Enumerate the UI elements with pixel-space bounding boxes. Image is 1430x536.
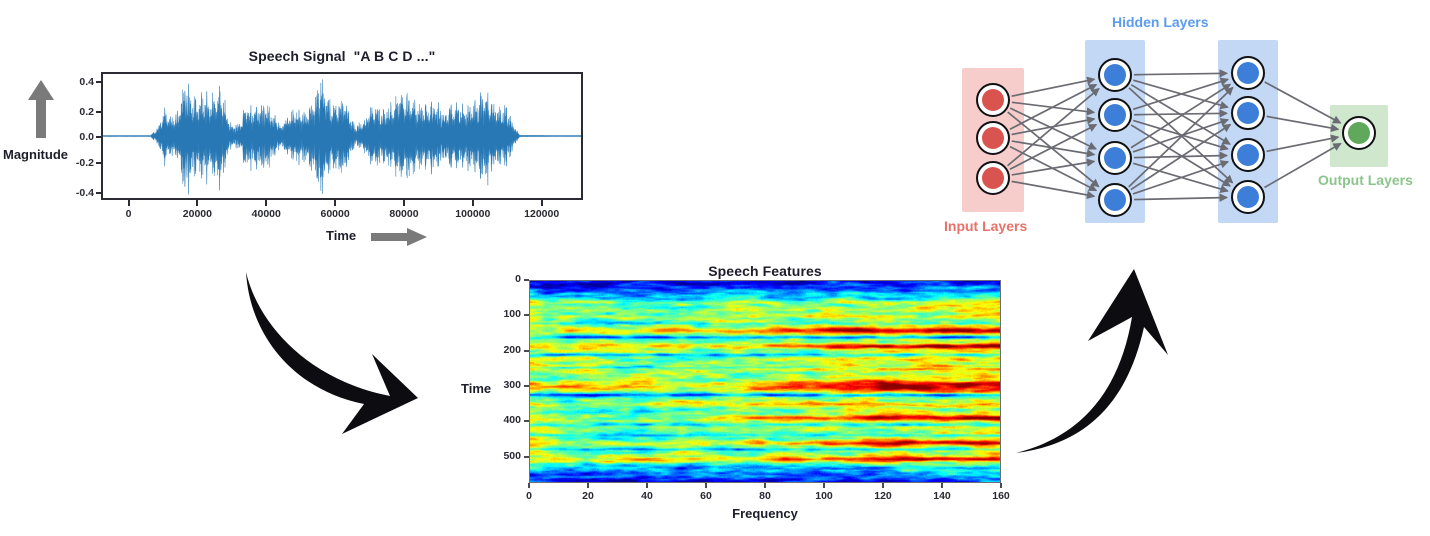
hidden2-node[interactable]: [1231, 138, 1265, 172]
output-node[interactable]: [1342, 116, 1376, 150]
figure-canvas: Speech Signal "A B C D ..." Magnitude 0.…: [0, 0, 1430, 536]
node-core: [1237, 62, 1259, 84]
network-edge: [1265, 82, 1341, 123]
hidden1-node[interactable]: [1098, 98, 1132, 132]
spectrogram-xtick-label: 120: [858, 490, 908, 502]
spectrogram-xtick-mark: [646, 483, 648, 488]
node-core: [1104, 147, 1126, 169]
network-edge: [1267, 116, 1339, 129]
hidden-layers-label: Hidden Layers: [1112, 14, 1208, 30]
spectrogram-xtick-label: 160: [976, 490, 1026, 502]
node-core: [982, 127, 1004, 149]
node-core: [1237, 102, 1259, 124]
input-node[interactable]: [976, 161, 1010, 195]
spectrogram-xtick-label: 0: [504, 490, 554, 502]
spectrogram-xtick-mark: [764, 483, 766, 488]
input-layers-label: Input Layers: [944, 218, 1027, 234]
spectrogram-frequency-label: Frequency: [529, 506, 1001, 521]
node-core: [1104, 64, 1126, 86]
spectrogram-xtick-label: 100: [799, 490, 849, 502]
spectrogram-xtick-label: 80: [740, 490, 790, 502]
spectrogram-xtick-mark: [587, 483, 589, 488]
node-core: [1237, 186, 1259, 208]
hidden2-node[interactable]: [1231, 180, 1265, 214]
node-core: [1348, 122, 1370, 144]
spectrogram-xtick-mark: [528, 483, 530, 488]
hidden2-node[interactable]: [1231, 56, 1265, 90]
spectrogram-xtick-mark: [823, 483, 825, 488]
network-edge: [1012, 79, 1095, 96]
spectrogram-xtick-label: 60: [681, 490, 731, 502]
spectrogram-xtick-mark: [1000, 483, 1002, 488]
network-edge: [1134, 73, 1227, 74]
node-core: [982, 167, 1004, 189]
network-edge: [1008, 89, 1099, 166]
network-edge: [1133, 162, 1228, 194]
hidden1-node[interactable]: [1098, 183, 1132, 217]
node-core: [982, 89, 1004, 111]
input-node[interactable]: [976, 83, 1010, 117]
node-core: [1237, 144, 1259, 166]
spectrogram-xtick-label: 140: [917, 490, 967, 502]
spectrogram-xtick-mark: [705, 483, 707, 488]
hidden1-node[interactable]: [1098, 141, 1132, 175]
neural-network-diagram: [930, 30, 1430, 220]
spectrogram-xtick-label: 20: [563, 490, 613, 502]
network-edge: [1134, 197, 1227, 199]
network-edge: [1267, 137, 1339, 151]
network-edge: [1134, 113, 1227, 114]
node-core: [1104, 104, 1126, 126]
spectrogram-xtick-mark: [941, 483, 943, 488]
hidden2-node[interactable]: [1231, 96, 1265, 130]
spectrogram-xtick-mark: [882, 483, 884, 488]
network-edge: [1010, 85, 1096, 130]
curved-arrow-up-right-icon: [1010, 255, 1190, 460]
node-core: [1104, 189, 1126, 211]
spectrogram-xtick-label: 40: [622, 490, 672, 502]
input-node[interactable]: [976, 121, 1010, 155]
hidden1-node[interactable]: [1098, 58, 1132, 92]
